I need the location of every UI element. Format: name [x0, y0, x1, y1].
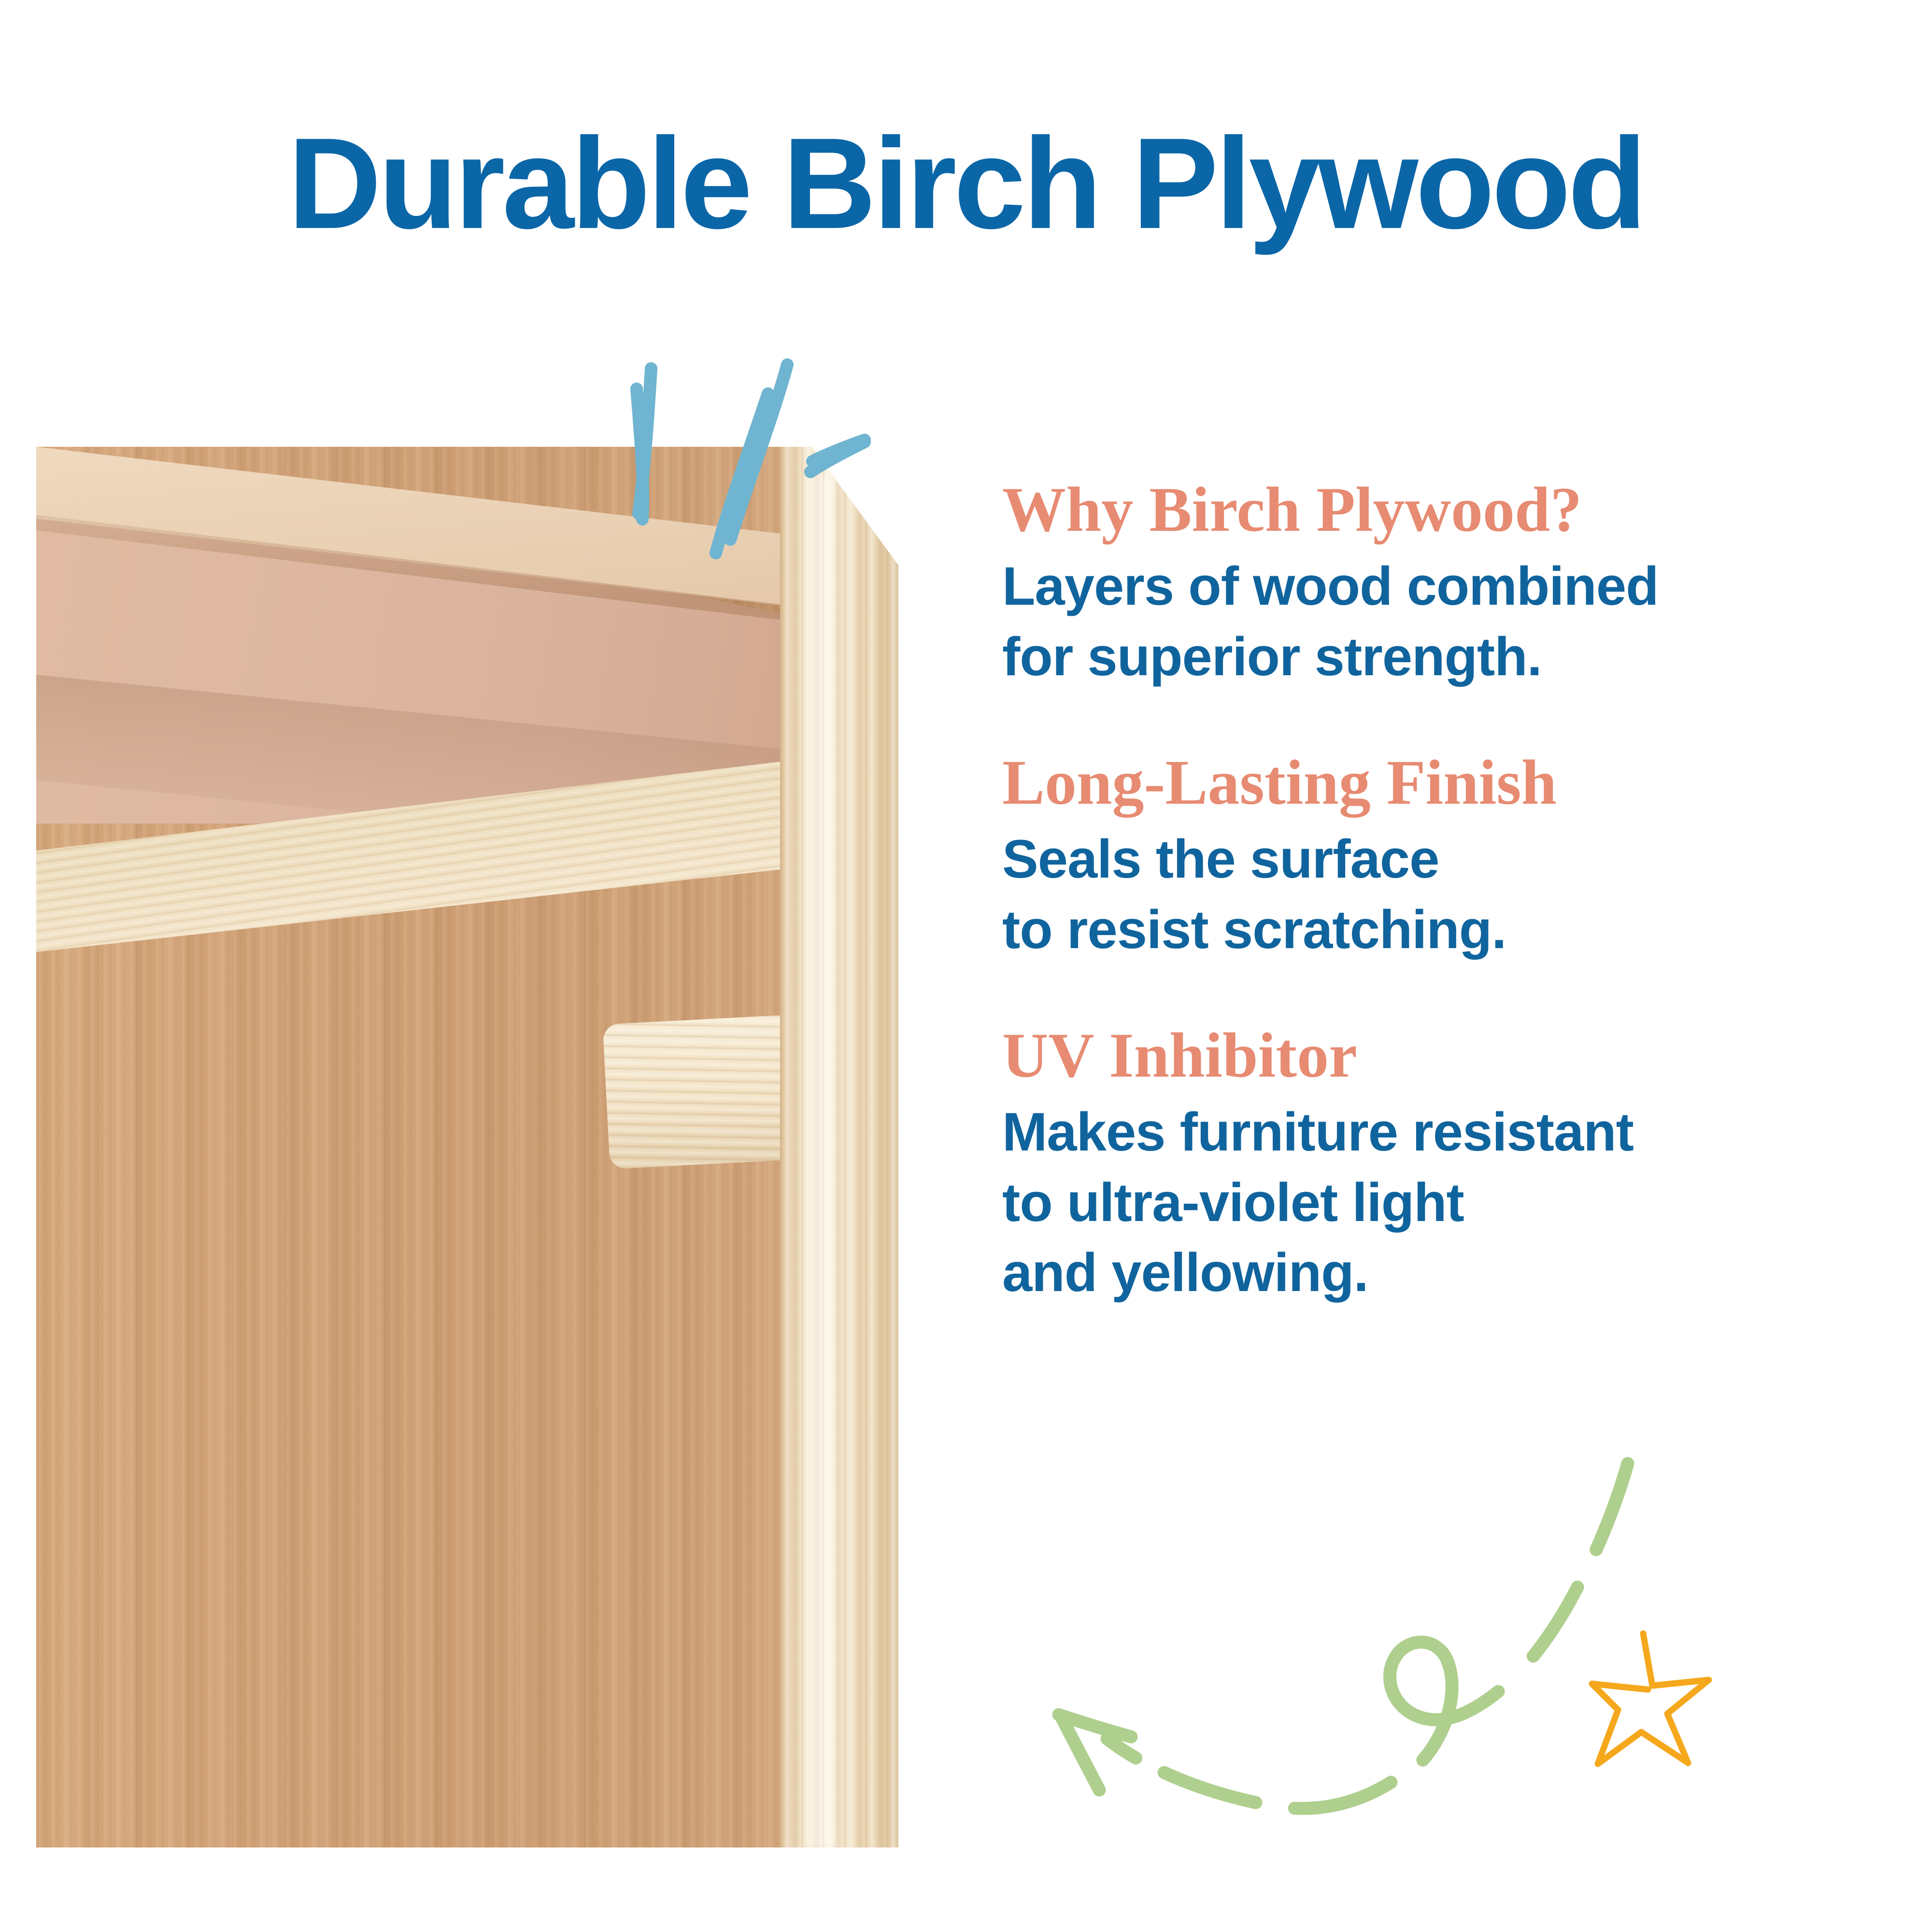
star-icon	[1589, 1628, 1729, 1768]
sparkle-strokes-icon	[594, 360, 903, 611]
poster-canvas: Durable Birch Plywood	[0, 0, 1932, 1932]
feature-heading: Why Birch Plywood?	[1002, 476, 1852, 543]
feature-body-line: Layers of wood combined	[1002, 551, 1852, 622]
feature-body-line: Seals the surface	[1002, 824, 1852, 895]
curved-arrow-icon	[1005, 1444, 1647, 1811]
feature-body-line: Makes furniture resistant	[1002, 1097, 1852, 1167]
feature-body: Seals the surface to resist scratching.	[1002, 824, 1852, 965]
feature-block-why-birch-plywood: Why Birch Plywood? Layers of wood combin…	[1002, 476, 1852, 692]
feature-heading: UV Inhibitor	[1002, 1022, 1852, 1089]
feature-body-line: to resist scratching.	[1002, 895, 1852, 965]
feature-block-long-lasting-finish: Long-Lasting Finish Seals the surface to…	[1002, 749, 1852, 965]
product-photo-birch-plywood-corner	[36, 447, 898, 1847]
page-title: Durable Birch Plywood	[0, 118, 1932, 248]
feature-block-uv-inhibitor: UV Inhibitor Makes furniture resistant t…	[1002, 1022, 1852, 1308]
feature-body-line: for superior strength.	[1002, 622, 1852, 692]
feature-body: Makes furniture resistant to ultra-viole…	[1002, 1097, 1852, 1308]
wood-rounded-corner-ply-layers	[780, 447, 898, 1847]
wood-corner-gloss-highlight	[807, 476, 832, 1847]
feature-body-line: to ultra-violet light	[1002, 1167, 1852, 1238]
feature-body-line: and yellowing.	[1002, 1237, 1852, 1308]
feature-heading: Long-Lasting Finish	[1002, 749, 1852, 816]
feature-list: Why Birch Plywood? Layers of wood combin…	[1002, 476, 1852, 1308]
feature-body: Layers of wood combined for superior str…	[1002, 551, 1852, 692]
